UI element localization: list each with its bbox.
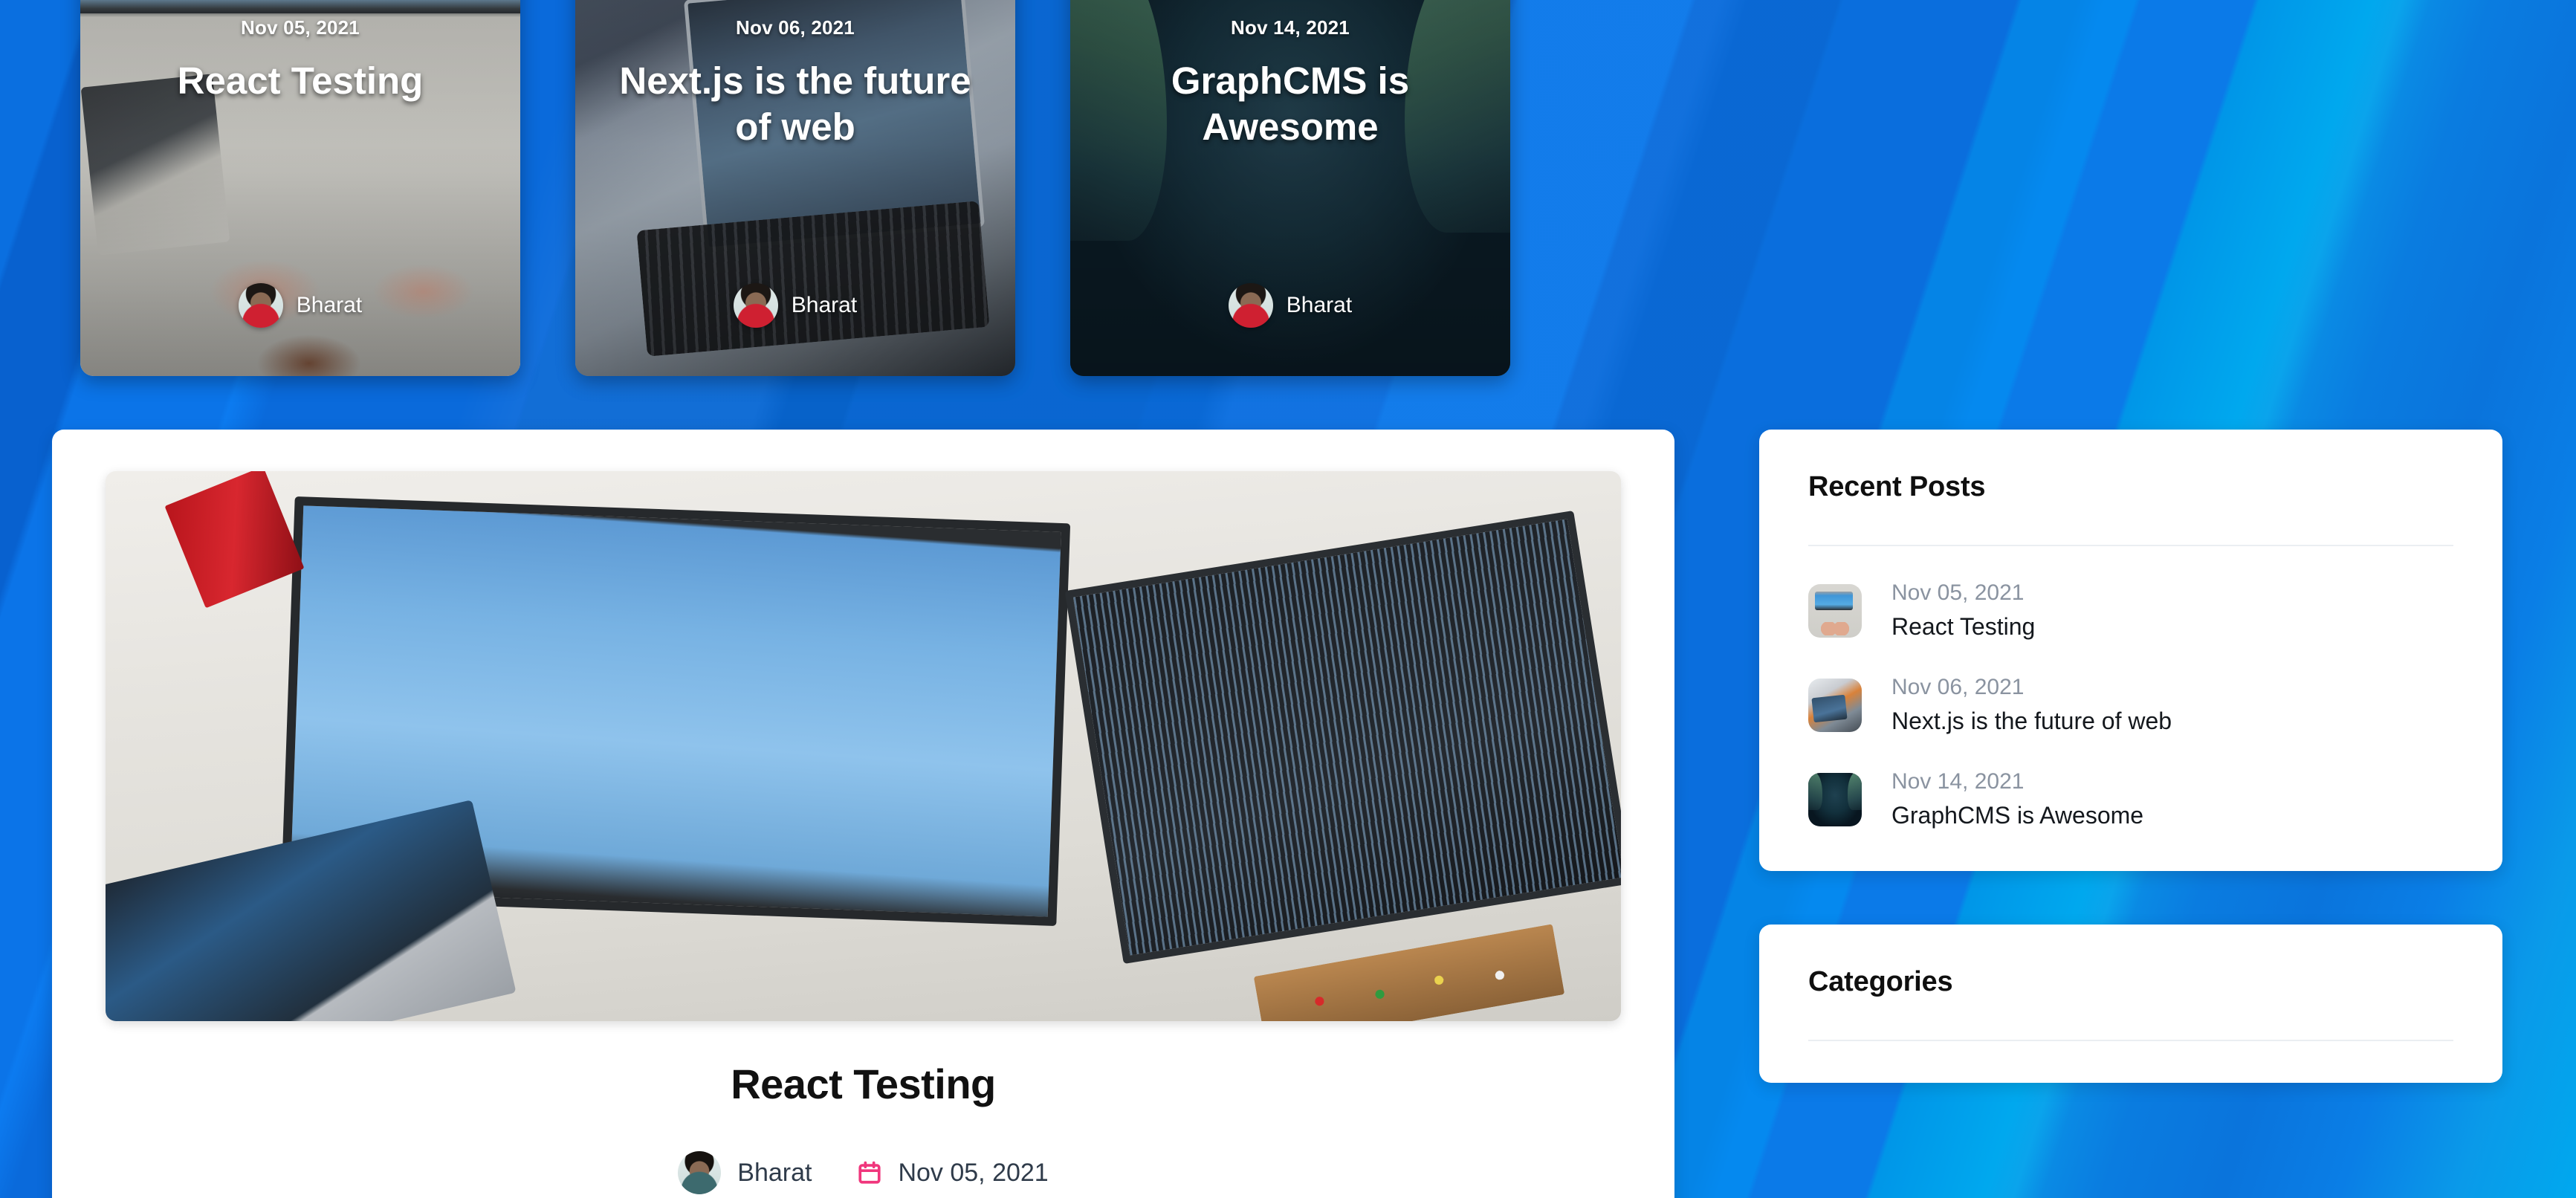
featured-post-author: Bharat: [1070, 283, 1510, 328]
recent-post-item[interactable]: Nov 14, 2021 GraphCMS is Awesome: [1808, 769, 2453, 829]
recent-post-item[interactable]: Nov 05, 2021 React Testing: [1808, 580, 2453, 641]
recent-post-title[interactable]: GraphCMS is Awesome: [1891, 802, 2143, 829]
calendar-icon: [856, 1160, 883, 1185]
author-name: Bharat: [792, 293, 857, 318]
recent-post-thumbnail: [1808, 679, 1862, 732]
article-author: Bharat: [678, 1151, 812, 1194]
recent-post-date: Nov 05, 2021: [1891, 580, 2035, 606]
recent-post-thumbnail: [1808, 584, 1862, 638]
red-book-shape: [164, 471, 304, 608]
laptop-shape: [106, 800, 517, 1021]
featured-post-date: Nov 14, 2021: [1070, 16, 1510, 39]
categories-widget: Categories: [1759, 925, 2502, 1083]
recent-post-title[interactable]: Next.js is the future of web: [1891, 708, 2172, 735]
divider: [1808, 1040, 2453, 1041]
desk-toys-shape: [1253, 924, 1564, 1021]
featured-post-card[interactable]: Nov 06, 2021 Next.js is the future of we…: [575, 0, 1015, 376]
featured-post-author: Bharat: [80, 283, 520, 328]
recent-post-date: Nov 14, 2021: [1891, 769, 2143, 794]
featured-post-card[interactable]: Nov 05, 2021 React Testing Bharat: [80, 0, 520, 376]
featured-posts-carousel: Nov 05, 2021 React Testing Bharat Nov 06…: [80, 0, 1510, 376]
author-name: Bharat: [1287, 293, 1352, 318]
recent-post-date: Nov 06, 2021: [1891, 675, 2172, 700]
main-column: React Testing Bharat: [52, 430, 1674, 1198]
author-name: Bharat: [297, 293, 362, 318]
featured-post-date: Nov 05, 2021: [80, 16, 520, 39]
recent-post-thumbnail: [1808, 773, 1862, 826]
author-avatar-icon: [239, 283, 283, 328]
featured-post-date: Nov 06, 2021: [575, 16, 1015, 39]
categories-heading: Categories: [1808, 966, 2453, 998]
recent-posts-widget: Recent Posts Nov 05, 2021 React Testing: [1759, 430, 2502, 871]
recent-post-text: Nov 14, 2021 GraphCMS is Awesome: [1891, 769, 2143, 829]
recent-posts-heading: Recent Posts: [1808, 471, 2453, 503]
article-date: Nov 05, 2021: [856, 1159, 1048, 1188]
featured-post-title[interactable]: React Testing: [110, 58, 491, 104]
recent-post-title[interactable]: React Testing: [1891, 613, 2035, 641]
author-avatar-icon: [734, 283, 778, 328]
recent-post-text: Nov 06, 2021 Next.js is the future of we…: [1891, 675, 2172, 735]
author-avatar-icon: [678, 1151, 721, 1194]
article-meta: Bharat Nov 05, 2021: [106, 1151, 1621, 1194]
featured-post-title[interactable]: Next.js is the future of web: [605, 58, 986, 150]
article-card: React Testing Bharat: [52, 430, 1674, 1198]
author-name: Bharat: [737, 1159, 812, 1188]
author-avatar-icon: [1229, 283, 1273, 328]
divider: [1808, 545, 2453, 546]
recent-post-item[interactable]: Nov 06, 2021 Next.js is the future of we…: [1808, 675, 2453, 735]
featured-post-card[interactable]: Nov 14, 2021 GraphCMS is Awesome Bharat: [1070, 0, 1510, 376]
article-date-text: Nov 05, 2021: [898, 1159, 1048, 1188]
recent-posts-list: Nov 05, 2021 React Testing Nov 06, 2021 …: [1808, 580, 2453, 829]
sidebar: Recent Posts Nov 05, 2021 React Testing: [1759, 430, 2502, 1198]
recent-post-text: Nov 05, 2021 React Testing: [1891, 580, 2035, 641]
article-title: React Testing: [106, 1060, 1621, 1108]
page-background: Nov 05, 2021 React Testing Bharat Nov 06…: [0, 0, 2576, 1198]
content-row: React Testing Bharat: [52, 430, 2524, 1198]
featured-post-author: Bharat: [575, 283, 1015, 328]
featured-post-title[interactable]: GraphCMS is Awesome: [1100, 58, 1480, 150]
article-featured-image: [106, 471, 1621, 1021]
